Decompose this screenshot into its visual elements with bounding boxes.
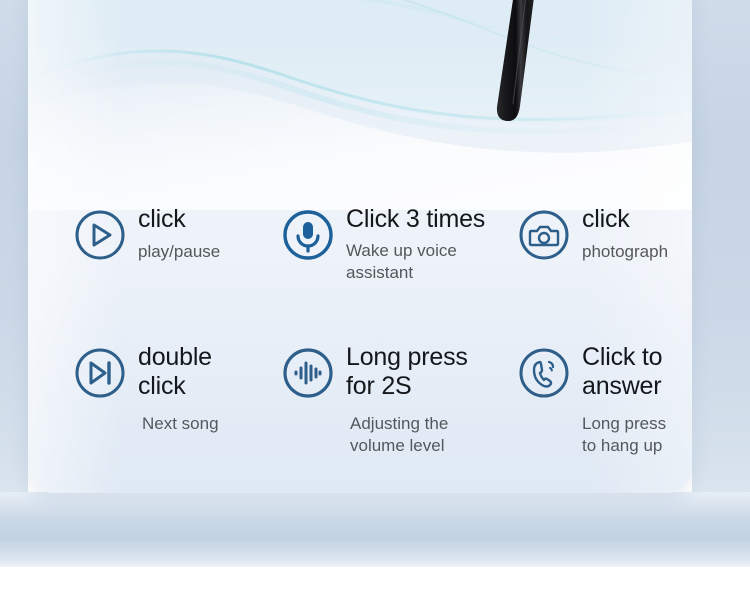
feature-text: click play/pause xyxy=(138,205,220,263)
feature-card: click play/pause Click 3 times Wake up v… xyxy=(28,0,692,493)
play-pause-icon xyxy=(74,209,126,261)
feature-photograph: click photograph xyxy=(518,205,692,343)
feature-list: click play/pause Click 3 times Wake up v… xyxy=(74,205,692,457)
feature-title: Long press for 2S xyxy=(346,343,468,401)
feature-subtitle: Next song xyxy=(142,413,219,435)
feature-next-song: double click Next song xyxy=(74,343,282,457)
earbud-product-photo xyxy=(480,0,550,131)
feature-subtitle: Adjusting the volume level xyxy=(350,413,468,457)
microphone-icon xyxy=(282,209,334,261)
feature-subtitle: photograph xyxy=(582,241,668,263)
feature-voice-assistant: Click 3 times Wake up voice assistant xyxy=(282,205,518,343)
feature-text: click photograph xyxy=(582,205,668,263)
feature-title: Click to answer xyxy=(582,343,666,401)
feature-text: Click to answer Long press to hang up xyxy=(582,343,666,457)
feature-volume: Long press for 2S Adjusting the volume l… xyxy=(282,343,518,457)
page-root: click play/pause Click 3 times Wake up v… xyxy=(0,0,750,606)
feature-title: click xyxy=(138,205,220,234)
feature-text: double click Next song xyxy=(138,343,219,435)
decorative-wave-ribbons xyxy=(28,0,692,210)
skip-next-icon xyxy=(74,347,126,399)
left-background-rail xyxy=(0,0,28,567)
feature-text: Long press for 2S Adjusting the volume l… xyxy=(346,343,468,457)
feature-answer-call: Click to answer Long press to hang up xyxy=(518,343,692,457)
feature-subtitle: Long press to hang up xyxy=(582,413,666,457)
feature-title: double click xyxy=(138,343,219,401)
feature-subtitle: play/pause xyxy=(138,241,220,263)
feature-text: Click 3 times Wake up voice assistant xyxy=(346,205,485,284)
feature-title: click xyxy=(582,205,668,234)
lower-background-band xyxy=(0,492,750,567)
right-background-rail xyxy=(692,0,750,567)
feature-play-pause: click play/pause xyxy=(74,205,282,343)
sound-wave-icon xyxy=(282,347,334,399)
feature-subtitle: Wake up voice assistant xyxy=(346,240,485,284)
phone-call-icon xyxy=(518,347,570,399)
feature-title: Click 3 times xyxy=(346,205,485,234)
camera-icon xyxy=(518,209,570,261)
